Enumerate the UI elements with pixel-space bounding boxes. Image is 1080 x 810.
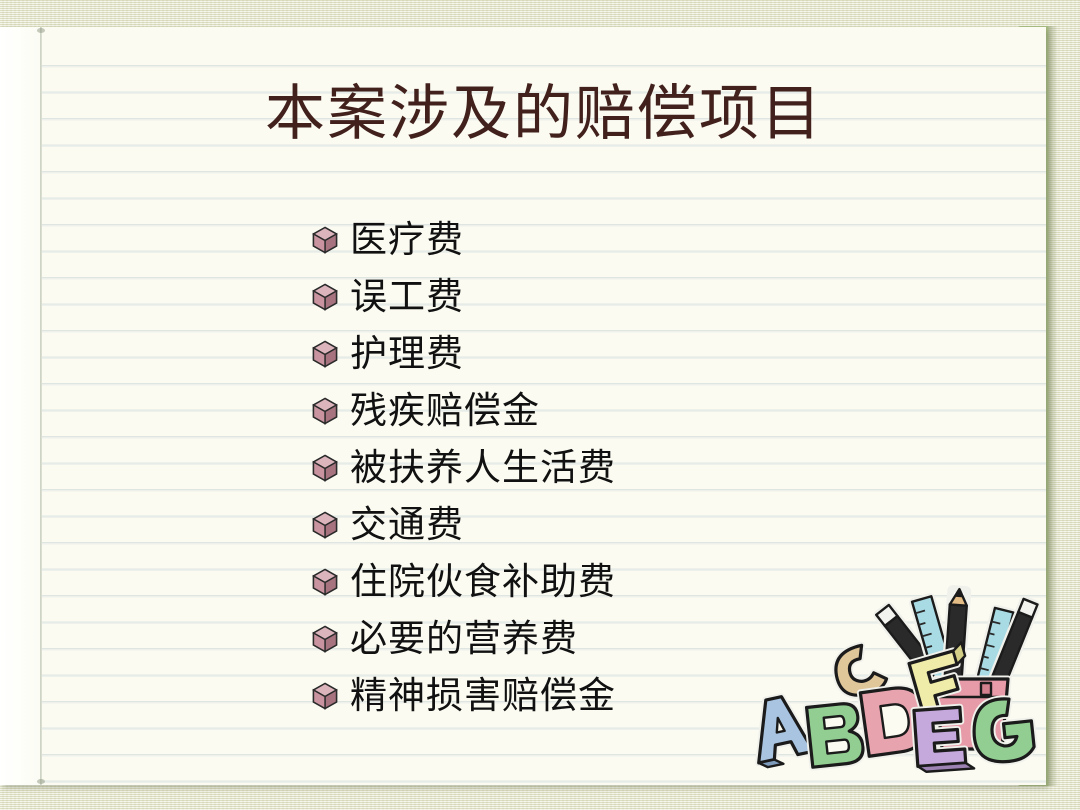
- list-item-label: 护理费: [350, 334, 464, 374]
- list-item-label: 医疗费: [350, 220, 464, 260]
- slide-title: 本案涉及的赔偿项目: [42, 79, 1046, 149]
- cube-bullet-icon: [312, 511, 338, 539]
- cube-bullet-icon: [312, 340, 338, 368]
- compensation-items-list: 医疗费 误工费: [312, 211, 1012, 724]
- cube-bullet-icon: [312, 625, 338, 653]
- list-item: 误工费: [312, 268, 1012, 325]
- list-item-label: 误工费: [350, 277, 464, 317]
- page-gutter: [0, 27, 42, 785]
- cube-bullet-icon: [312, 682, 338, 710]
- cube-bullet-icon: [312, 454, 338, 482]
- cube-bullet-icon: [312, 568, 338, 596]
- list-item-label: 残疾赔偿金: [350, 391, 540, 431]
- slide-canvas: 本案涉及的赔偿项目 医疗费: [0, 0, 1080, 810]
- list-item-label: 精神损害赔偿金: [350, 676, 616, 716]
- list-item: 护理费: [312, 325, 1012, 382]
- list-item: 精神损害赔偿金: [312, 667, 1012, 724]
- list-item: 住院伙食补助费: [312, 553, 1012, 610]
- list-item-label: 住院伙食补助费: [350, 562, 616, 602]
- cube-bullet-icon: [312, 397, 338, 425]
- list-item-label: 必要的营养费: [350, 619, 578, 659]
- list-item: 残疾赔偿金: [312, 382, 1012, 439]
- list-item-label: 交通费: [350, 505, 464, 545]
- binding-nub-top: [37, 28, 45, 33]
- list-item: 必要的营养费: [312, 610, 1012, 667]
- cube-bullet-icon: [312, 283, 338, 311]
- binding-nub-bottom: [37, 779, 45, 784]
- notebook-page: 本案涉及的赔偿项目 医疗费: [0, 27, 1046, 785]
- list-item-label: 被扶养人生活费: [350, 448, 616, 488]
- cube-bullet-icon: [312, 226, 338, 254]
- list-item: 被扶养人生活费: [312, 439, 1012, 496]
- list-item: 交通费: [312, 496, 1012, 553]
- list-item: 医疗费: [312, 211, 1012, 268]
